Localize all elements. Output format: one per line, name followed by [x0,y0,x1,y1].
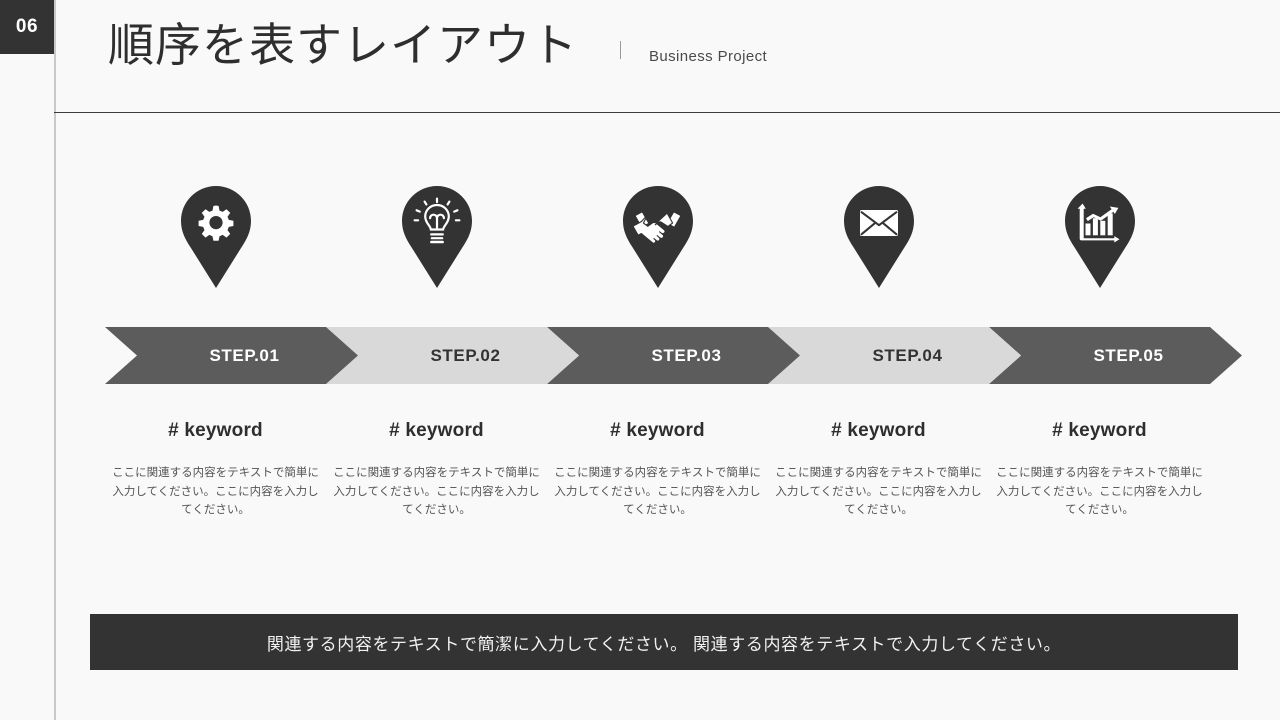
bottom-banner: 関連する内容をテキストで簡潔に入力してください。 関連する内容をテキストで入力し… [90,614,1238,670]
pin-marker-1 [177,186,255,288]
header-title-block: 順序を表すレイアウト Business Project [108,22,767,92]
step-chevron-label: STEP.04 [872,346,942,366]
step-chevron-5[interactable]: STEP.05 [989,327,1242,384]
step-chevron-2[interactable]: STEP.02 [326,327,579,384]
step-chevron-label: STEP.05 [1093,346,1163,366]
step-keyword: # keyword [547,420,768,442]
pin-marker-3 [619,186,697,288]
step-chevron-band: STEP.01 STEP.02 STEP.03 STEP.04 STEP.05 [105,327,1210,384]
step-description: ここに関連する内容をテキストで簡単に 入力してください。ここに内容を入力してくだ… [547,464,768,520]
step-chevron-label: STEP.03 [651,346,721,366]
step-keyword: # keyword [105,420,326,442]
bottom-banner-text: 関連する内容をテキストで簡潔に入力してください。 関連する内容をテキストで入力し… [267,630,1061,655]
page-title: 順序を表すレイアウト [108,22,578,68]
step-description: ここに関連する内容をテキストで簡単に 入力してください。ここに内容を入力してくだ… [105,464,326,520]
page-number-badge: 06 [0,0,54,54]
step-column-2: # keyword ここに関連する内容をテキストで簡単に 入力してください。ここ… [326,420,547,520]
slide-canvas: 06 順序を表すレイアウト Business Project [0,0,1280,720]
step-chevron-label: STEP.02 [430,346,500,366]
step-description: ここに関連する内容をテキストで簡単に 入力してください。ここに内容を入力してくだ… [768,464,989,520]
header-horizontal-rule [54,112,1280,113]
pin-marker-4 [840,186,918,288]
step-column-5: # keyword ここに関連する内容をテキストで簡単に 入力してください。ここ… [989,420,1210,520]
step-keyword: # keyword [768,420,989,442]
envelope-icon [860,210,898,236]
step-column-3: # keyword ここに関連する内容をテキストで簡単に 入力してください。ここ… [547,420,768,520]
step-description: ここに関連する内容をテキストで簡単に 入力してください。ここに内容を入力してくだ… [326,464,547,520]
step-chevron-1[interactable]: STEP.01 [105,327,358,384]
step-column-4: # keyword ここに関連する内容をテキストで簡単に 入力してください。ここ… [768,420,989,520]
step-description-row: # keyword ここに関連する内容をテキストで簡単に 入力してください。ここ… [105,420,1210,540]
title-separator [620,41,621,59]
step-description: ここに関連する内容をテキストで簡単に 入力してください。ここに内容を入力してくだ… [989,464,1210,520]
step-keyword: # keyword [326,420,547,442]
step-chevron-label: STEP.01 [209,346,279,366]
step-keyword: # keyword [989,420,1210,442]
step-column-1: # keyword ここに関連する内容をテキストで簡単に 入力してください。ここ… [105,420,326,520]
left-vertical-rule [54,0,56,720]
pin-marker-5 [1061,186,1139,288]
page-subtitle: Business Project [649,48,767,65]
step-chevron-4[interactable]: STEP.04 [768,327,1021,384]
pin-marker-row [105,186,1210,290]
step-chevron-3[interactable]: STEP.03 [547,327,800,384]
pin-marker-2 [398,186,476,288]
